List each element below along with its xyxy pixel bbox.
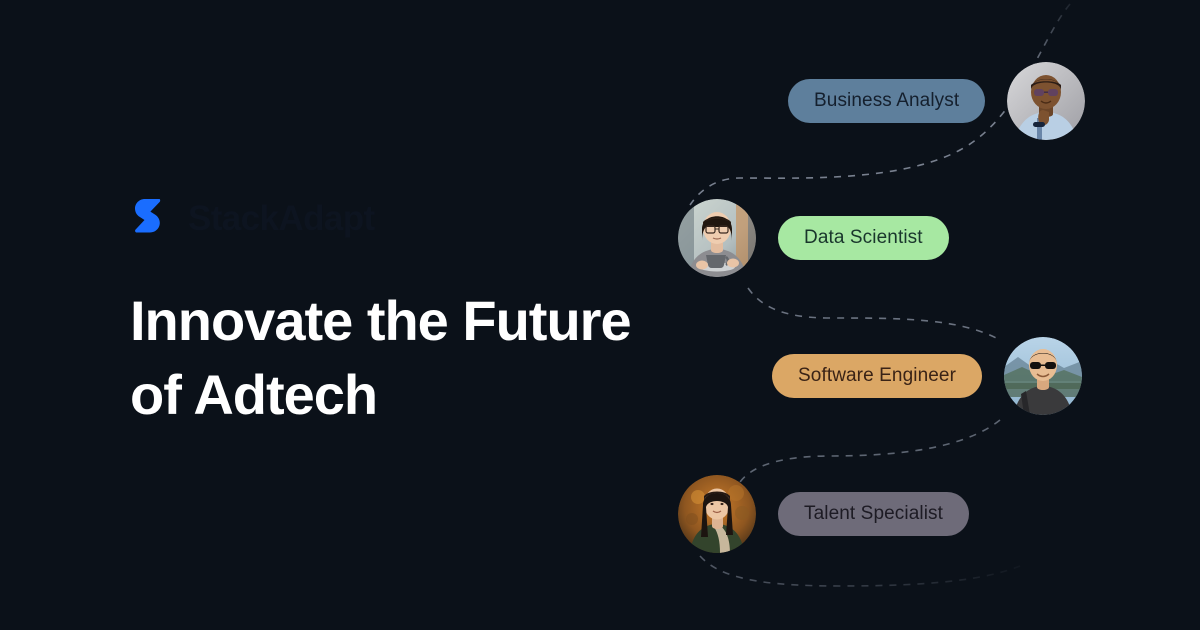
stackadapt-s-logo-icon (130, 196, 174, 240)
connector-segment-lower (740, 420, 1000, 482)
avatar-talent-specialist (678, 475, 756, 553)
headline-line-2: of Adtech (130, 358, 690, 432)
brand-lockup: StackAdapt (130, 196, 375, 240)
role-node-business-analyst: Business Analyst (788, 62, 1085, 140)
role-node-talent-specialist: Talent Specialist (678, 475, 969, 553)
role-pill-software-engineer[interactable]: Software Engineer (772, 354, 982, 398)
role-node-software-engineer: Software Engineer (772, 337, 1082, 415)
avatar-business-analyst (1007, 62, 1085, 140)
page-title: Innovate the Future of Adtech (130, 284, 690, 432)
role-pill-data-scientist[interactable]: Data Scientist (778, 216, 949, 260)
role-node-data-scientist: Data Scientist (678, 199, 949, 277)
role-pill-business-analyst[interactable]: Business Analyst (788, 79, 985, 123)
headline-line-1: Innovate the Future (130, 284, 690, 358)
connector-segment-middle (748, 288, 1000, 340)
brand-wordmark: StackAdapt (188, 201, 375, 236)
role-pill-talent-specialist[interactable]: Talent Specialist (778, 492, 969, 536)
avatar-software-engineer (1004, 337, 1082, 415)
avatar-data-scientist (678, 199, 756, 277)
hero-banner: StackAdapt Innovate the Future of Adtech… (0, 0, 1200, 630)
connector-segment-tail (700, 556, 1020, 586)
